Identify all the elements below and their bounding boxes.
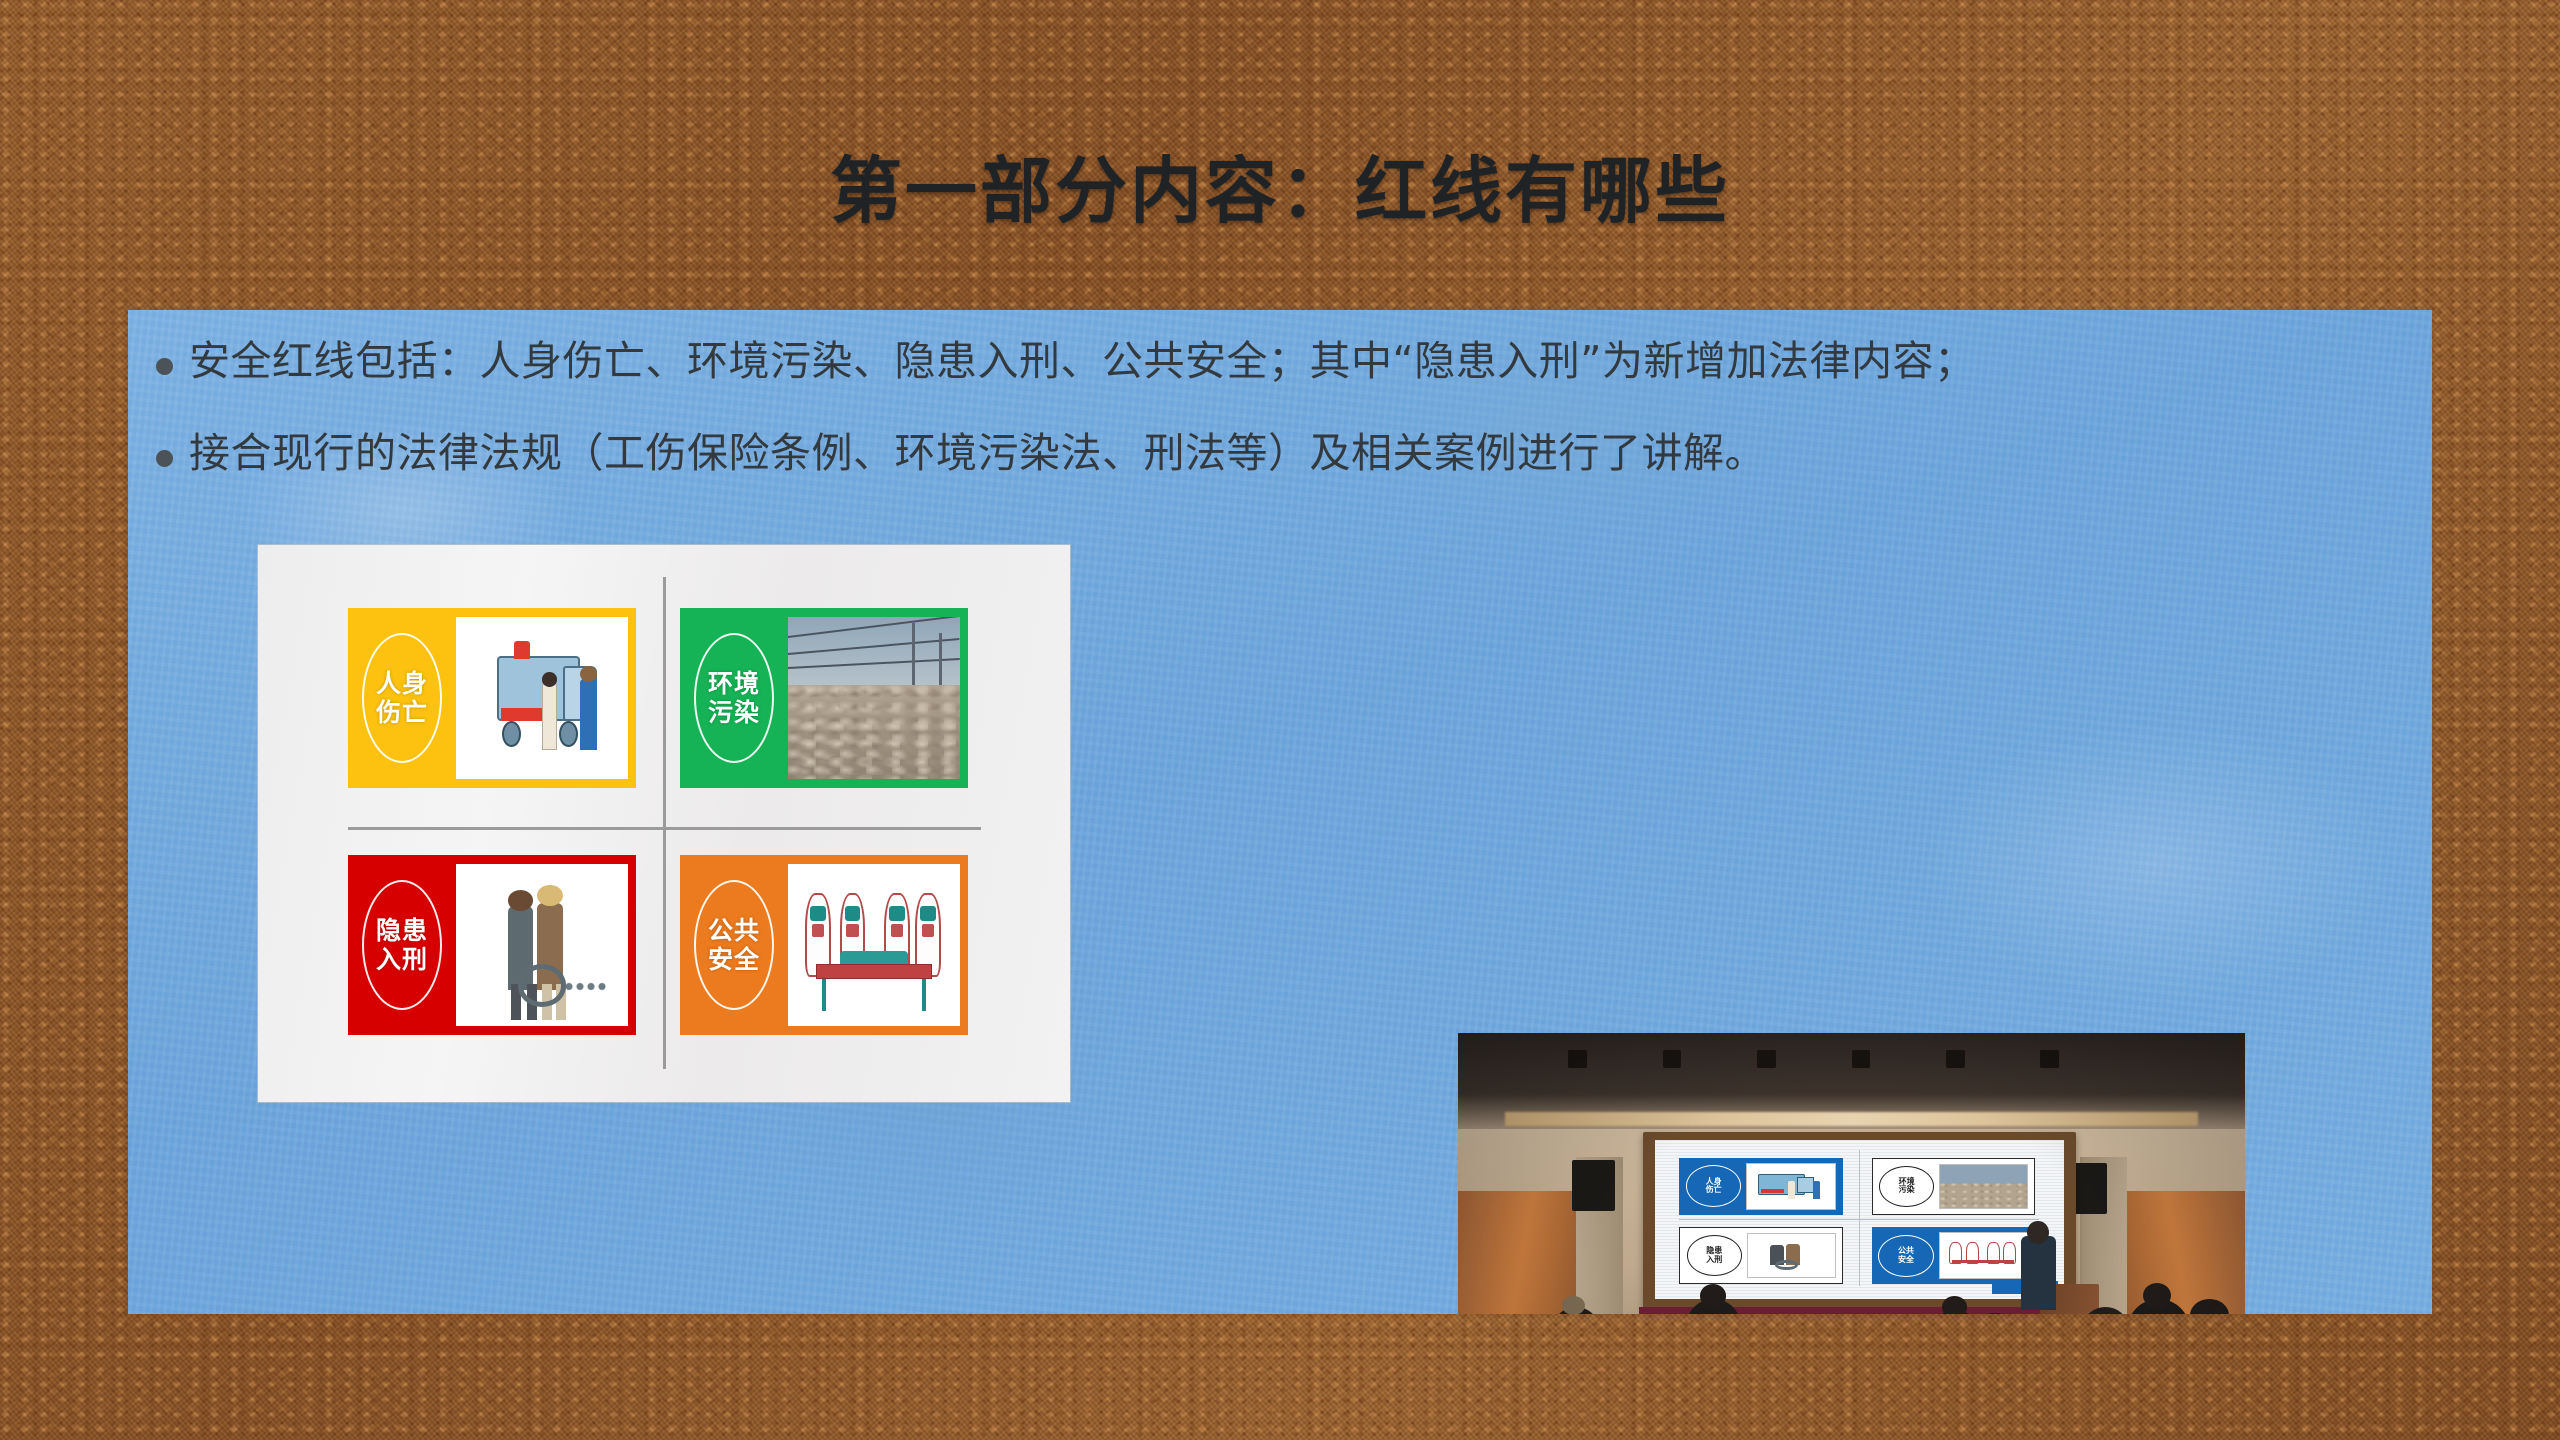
label-oval: 隐患 入刑 [362, 880, 442, 1010]
screen-label-oval: 公共 安全 [1878, 1235, 1934, 1277]
bullet-text-1: 安全红线包括：人身伤亡、环境污染、隐患入刑、公共安全；其中“隐患入刑”为新增加法… [189, 336, 1975, 387]
garbage-dump-photo [788, 617, 960, 779]
screen-cell-environmental-pollution: 环境 污染 [1872, 1158, 2036, 1215]
label-line-2: 入刑 [376, 945, 428, 975]
screen-label-line-2: 安全 [1898, 1256, 1914, 1264]
training-session-photo: 人身 伤亡 环境 污染 隐患 [1458, 1033, 2245, 1314]
bullet-text-2: 接合现行的法律法规（工伤保险条例、环境污染法、刑法等）及相关案例进行了讲解。 [189, 428, 1766, 479]
ambulance-illustration [456, 617, 628, 779]
bullet-item-1: 安全红线包括：人身伤亡、环境污染、隐患入刑、公共安全；其中“隐患入刑”为新增加法… [156, 336, 1975, 387]
presenter [2021, 1236, 2056, 1309]
label-oval: 环境 污染 [694, 633, 774, 763]
screen-label-line-2: 污染 [1899, 1186, 1915, 1194]
label-line-1: 隐患 [376, 916, 428, 946]
screen-handcuff-thumb [1747, 1233, 1836, 1278]
screen-ambulance-thumb [1746, 1163, 1836, 1210]
audience-head [2143, 1283, 2171, 1308]
screen-pollution-thumb [1939, 1164, 2028, 1209]
wall-speaker-icon [1572, 1160, 1615, 1211]
screen-label-line-2: 伤亡 [1706, 1186, 1722, 1194]
screen-label-oval: 环境 污染 [1879, 1166, 1934, 1207]
quadrant-label-hazard-criminal: 隐患 入刑 [348, 855, 456, 1035]
label-oval: 公共 安全 [694, 880, 774, 1010]
quadrant-vertical-divider [663, 577, 666, 1069]
content-panel: 安全红线包括：人身伤亡、环境污染、隐患入刑、公共安全；其中“隐患入刑”为新增加法… [128, 310, 2432, 1314]
handcuffed-men-illustration [456, 864, 628, 1026]
quadrant-personal-injury: 人身 伤亡 [348, 608, 636, 788]
bullet-item-2: 接合现行的法律法规（工伤保险条例、环境污染法、刑法等）及相关案例进行了讲解。 [156, 428, 1766, 479]
quadrant-label-personal-injury: 人身 伤亡 [348, 608, 456, 788]
audience-head [1942, 1296, 1967, 1314]
label-line-1: 环境 [708, 669, 760, 699]
screen-label-line-2: 入刑 [1706, 1256, 1722, 1264]
label-line-2: 污染 [708, 698, 760, 728]
projector-screen: 人身 伤亡 环境 污染 隐患 [1655, 1140, 2064, 1298]
page-title: 第一部分内容：红线有哪些 [0, 132, 2560, 237]
screen-cell-hazard-criminal: 隐患 入刑 [1679, 1227, 1843, 1284]
quadrant-label-environmental-pollution: 环境 污染 [680, 608, 788, 788]
bullet-dot-icon [156, 450, 173, 467]
label-line-2: 伤亡 [376, 698, 428, 728]
hazmat-stretcher-illustration [788, 864, 960, 1026]
label-line-1: 公共 [708, 916, 760, 946]
screen-label-oval: 人身 伤亡 [1686, 1165, 1742, 1207]
label-line-1: 人身 [376, 669, 428, 699]
quadrant-label-public-safety: 公共 安全 [680, 855, 788, 1035]
quadrant-public-safety: 公共 安全 [680, 855, 968, 1035]
screen-hazmat-thumb [1939, 1232, 2029, 1279]
screen-label-oval: 隐患 入刑 [1687, 1235, 1742, 1276]
quadrant-horizontal-divider [348, 827, 981, 830]
label-oval: 人身 伤亡 [362, 633, 442, 763]
presenter-head [2027, 1221, 2049, 1245]
quadrant-environmental-pollution: 环境 污染 [680, 608, 968, 788]
quadrant-hazard-criminal: 隐患 入刑 [348, 855, 636, 1035]
red-line-quadrant-figure: 人身 伤亡 环境 污染 [258, 545, 1070, 1102]
audience-head [1562, 1296, 1586, 1314]
screen-cell-personal-injury: 人身 伤亡 [1679, 1158, 1843, 1215]
label-line-2: 安全 [708, 945, 760, 975]
screen-cell-public-safety: 公共 安全 [1872, 1227, 2036, 1284]
bullet-dot-icon [156, 358, 173, 375]
